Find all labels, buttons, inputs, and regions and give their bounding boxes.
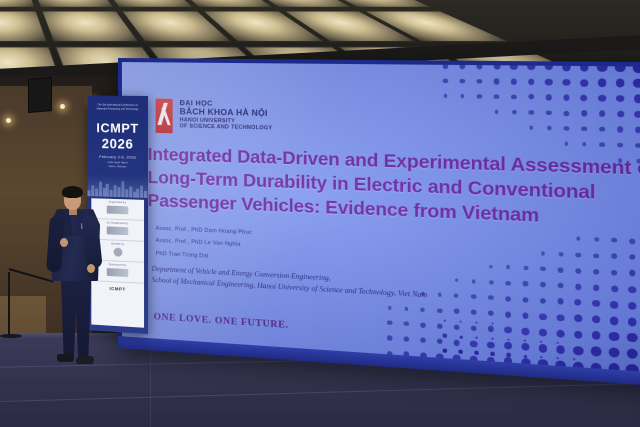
halftone-dot: [523, 354, 527, 358]
halftone-dot: [505, 311, 511, 317]
author-name: PhD Tran Trong Dat: [156, 252, 252, 263]
halftone-dot: [421, 307, 426, 312]
halftone-dot: [420, 337, 426, 343]
halftone-dot: [546, 126, 551, 130]
halftone-dot: [522, 312, 529, 319]
halftone-dot: [388, 306, 392, 310]
halftone-dot: [454, 324, 460, 330]
halftone-dot: [494, 79, 500, 85]
ceiling-speaker-icon: [28, 77, 52, 113]
halftone-dot: [521, 343, 529, 351]
hust-logo: ĐẠI HỌC BÁCH KHOA HÀ NỘI HANOI UNIVERSIT…: [156, 99, 273, 136]
standee-title: ICMPT: [87, 120, 148, 136]
halftone-dot: [453, 339, 460, 346]
halftone-dot: [493, 63, 500, 70]
halftone-dot: [523, 266, 528, 271]
presenter-hand: [60, 238, 68, 247]
halftone-dot: [593, 269, 599, 275]
halftone-dot: [546, 94, 552, 100]
halftone-dot: [546, 110, 551, 115]
floor-seam: [0, 383, 640, 402]
halftone-dot: [494, 94, 499, 99]
halftone-dot: [615, 63, 625, 73]
halftone-dot: [610, 316, 619, 325]
skyline-building: [118, 187, 121, 197]
halftone-dot: [540, 341, 543, 344]
halftone-dot: [557, 283, 563, 289]
logo-line-2: BÁCH KHOA HÀ NỘI: [180, 107, 273, 118]
ceiling-coffer: [0, 11, 47, 42]
halftone-dot: [420, 322, 425, 327]
ceiling-coffer: [101, 0, 194, 8]
presenter-shoe: [57, 354, 74, 362]
halftone-dot: [494, 110, 498, 114]
halftone-dot: [593, 253, 598, 258]
downlight-icon: [60, 104, 65, 109]
halftone-dot: [557, 298, 564, 305]
halftone-dot: [629, 254, 635, 260]
halftone-dot: [592, 315, 601, 323]
halftone-dot: [609, 347, 620, 358]
halftone-dot: [511, 94, 517, 99]
halftone-dot: [443, 334, 447, 338]
halftone-dot: [591, 331, 600, 340]
projection-screen: ĐẠI HỌC BÁCH KHOA HÀ NỘI HANOI UNIVERSIT…: [118, 58, 640, 389]
halftone-dot: [628, 286, 636, 294]
halftone-dot: [522, 297, 528, 303]
halftone-dot: [591, 346, 601, 356]
halftone-dot: [404, 336, 410, 342]
halftone-dot: [634, 95, 640, 103]
halftone-dot: [487, 326, 494, 333]
slide-title: Integrated Data-Driven and Experimental …: [148, 143, 640, 233]
halftone-dot: [581, 126, 586, 131]
halftone-dot: [575, 268, 581, 274]
halftone-dot: [459, 320, 462, 323]
halftone-dot: [599, 126, 605, 132]
halftone-dot: [627, 333, 637, 343]
halftone-dot: [628, 301, 637, 309]
halftone-dot: [491, 337, 494, 340]
halftone-dot: [580, 79, 588, 87]
halftone-dot: [593, 284, 600, 291]
halftone-dot: [437, 323, 443, 329]
halftone-dot: [459, 63, 465, 69]
halftone-dot: [510, 63, 517, 70]
halftone-dot: [575, 284, 582, 290]
halftone-dot: [635, 143, 640, 148]
halftone-dot: [387, 336, 392, 341]
halftone-dot: [529, 126, 533, 130]
halftone-dot: [628, 317, 638, 326]
halftone-dot: [558, 252, 563, 257]
halftone-dot: [576, 237, 580, 241]
halftone-dot: [506, 265, 510, 269]
author-name: Assoc. Prof., PhD Le Van Nghia: [156, 239, 252, 250]
halftone-dot: [507, 353, 511, 357]
conference-room-photo: ĐẠI HỌC BÁCH KHOA HÀ NỘI HANOI UNIVERSIT…: [0, 0, 640, 427]
halftone-dot: [597, 63, 607, 72]
halftone-dot: [477, 79, 483, 84]
halftone-dot: [564, 126, 569, 131]
ceiling-coffer: [31, 0, 115, 8]
halftone-dot: [504, 327, 511, 334]
halftone-dot: [556, 329, 564, 337]
skyline-building: [133, 192, 136, 198]
halftone-dot: [562, 63, 571, 71]
skyline-building: [121, 181, 124, 197]
halftone-dot: [475, 336, 478, 339]
presenter-hand: [87, 264, 95, 273]
halftone-dot: [633, 79, 640, 88]
presenter: [40, 182, 114, 372]
halftone-dot: [460, 94, 464, 98]
halftone-dot: [504, 342, 512, 350]
halftone-dot: [470, 340, 477, 347]
halftone-dot: [458, 349, 463, 354]
halftone-dot: [573, 346, 583, 356]
halftone-dot: [540, 298, 546, 304]
microphone-stand: [8, 272, 10, 338]
halftone-dot: [579, 63, 588, 72]
halftone-dot: [512, 110, 517, 115]
microphone-base: [0, 334, 22, 338]
halftone-dot: [617, 127, 623, 133]
halftone-dot: [507, 338, 510, 341]
presenter-hair: [62, 186, 83, 198]
halftone-dot: [528, 79, 535, 85]
slide-surface: ĐẠI HỌC BÁCH KHOA HÀ NỘI HANOI UNIVERSIT…: [122, 62, 640, 377]
halftone-dot: [598, 79, 607, 87]
halftone-dot: [581, 94, 588, 101]
standee-date: February 2-6, 2026: [87, 154, 148, 160]
downlight-icon: [6, 118, 11, 123]
standee-venue: Lotte Hotel Hanoi Hanoi, Vietnam: [87, 161, 148, 170]
presenter-legs: [58, 278, 94, 360]
halftone-dot: [437, 338, 443, 344]
halftone-dot: [523, 339, 526, 342]
halftone-dot: [563, 79, 571, 86]
halftone-dot: [443, 63, 449, 68]
halftone-dot: [629, 239, 634, 244]
standee-top-line: The 3rd International Conference on Mate…: [92, 103, 143, 111]
halftone-dot: [527, 63, 535, 70]
halftone-dot: [600, 142, 605, 147]
halftone-dot: [629, 270, 636, 277]
skyline-building: [114, 185, 117, 197]
halftone-dot: [575, 299, 582, 306]
sponsor-logo-icon: [113, 247, 122, 256]
halftone-dot: [627, 348, 638, 359]
halftone-dot: [511, 79, 517, 85]
halftone-dot: [557, 314, 565, 322]
halftone-dot: [633, 62, 640, 72]
halftone-dot: [599, 111, 606, 117]
halftone-dot: [611, 285, 618, 292]
halftone-dot: [558, 267, 563, 272]
halftone-dot: [563, 94, 570, 100]
halftone-dot: [523, 281, 528, 286]
halftone-dot: [487, 341, 495, 349]
halftone-dot: [488, 310, 494, 316]
ceiling-coffer: [0, 0, 35, 8]
halftone-dot: [490, 352, 494, 356]
halftone-dot: [539, 313, 546, 320]
standee-year: 2026: [87, 136, 148, 152]
halftone-dot: [564, 142, 568, 146]
halftone-dot: [556, 345, 565, 354]
halftone-dot: [617, 143, 622, 148]
halftone-dot: [471, 310, 477, 316]
halftone-dot: [574, 315, 582, 323]
halftone-dot: [454, 309, 459, 314]
author-name: Assoc. Prof., PhD Dam Hoang Phuc: [156, 227, 252, 237]
halftone-dot: [635, 127, 640, 133]
halftone-dot: [556, 357, 559, 360]
halftone-dot: [574, 330, 583, 339]
halftone-dot: [459, 335, 463, 339]
halftone-dot: [573, 358, 576, 361]
halftone-dot: [594, 237, 599, 242]
presenter-shoe: [76, 356, 94, 364]
halftone-dot: [540, 355, 543, 358]
halftone-dot: [541, 251, 545, 255]
halftone-dot: [538, 344, 547, 353]
hust-logo-text: ĐẠI HỌC BÁCH KHOA HÀ NỘI HANOI UNIVERSIT…: [180, 99, 273, 133]
halftone-dot: [404, 321, 409, 326]
author-list: Assoc. Prof., PhD Dam Hoang Phuc Assoc. …: [156, 227, 252, 269]
halftone-dot: [470, 325, 476, 331]
halftone-dot: [611, 254, 617, 260]
halftone-dot: [442, 348, 447, 353]
skyline-building: [144, 191, 147, 198]
halftone-dot: [474, 351, 478, 355]
halftone-dot: [615, 79, 624, 88]
halftone-dot: [460, 79, 465, 84]
skyline-building: [129, 186, 132, 197]
halftone-dot: [491, 322, 493, 324]
halftone-dot: [609, 332, 619, 342]
halftone-dot: [610, 301, 618, 309]
halftone-dot: [634, 111, 640, 118]
halftone-dot: [616, 95, 624, 103]
halftone-dot: [617, 111, 624, 118]
floor-seam: [150, 338, 151, 427]
halftone-dot: [443, 94, 447, 98]
skyline-building: [140, 186, 143, 198]
halftone-dot: [475, 321, 477, 324]
halftone-dot: [612, 238, 617, 243]
halftone-dot: [581, 110, 587, 116]
halftone-dot: [529, 110, 534, 115]
slide-tagline: ONE LOVE. ONE FUTURE.: [154, 312, 289, 331]
halftone-dot: [540, 267, 545, 272]
affiliation: Department of Vehicle and Energy Convers…: [152, 264, 517, 307]
halftone-dot: [437, 308, 442, 313]
halftone-dot: [489, 264, 493, 268]
standee-venue-line-2: Hanoi, Vietnam: [87, 165, 148, 170]
halftone-dot: [592, 300, 600, 307]
halftone-dot: [528, 94, 534, 100]
halftone-dot: [582, 142, 587, 146]
halftone-dot: [598, 95, 606, 102]
halftone-dot: [443, 79, 448, 84]
halftone-dot: [545, 63, 553, 71]
halftone-dot: [522, 328, 530, 336]
halftone-dot: [563, 110, 569, 116]
skyline-building: [137, 189, 140, 198]
halftone-dot: [540, 282, 546, 288]
hust-logo-mark-icon: [156, 99, 173, 134]
halftone-dot: [545, 79, 552, 86]
halftone-dot: [404, 306, 408, 310]
halftone-dot: [387, 321, 392, 326]
halftone-dot: [556, 342, 558, 344]
halftone-dot: [539, 328, 547, 336]
halftone-dot: [611, 269, 617, 275]
halftone-dot: [443, 319, 446, 322]
halftone-dot: [476, 63, 482, 69]
halftone-dot: [477, 94, 482, 99]
skyline-building: [125, 189, 128, 197]
logo-line-4: OF SCIENCE AND TECHNOLOGY: [180, 125, 273, 133]
halftone-dot: [576, 252, 581, 257]
